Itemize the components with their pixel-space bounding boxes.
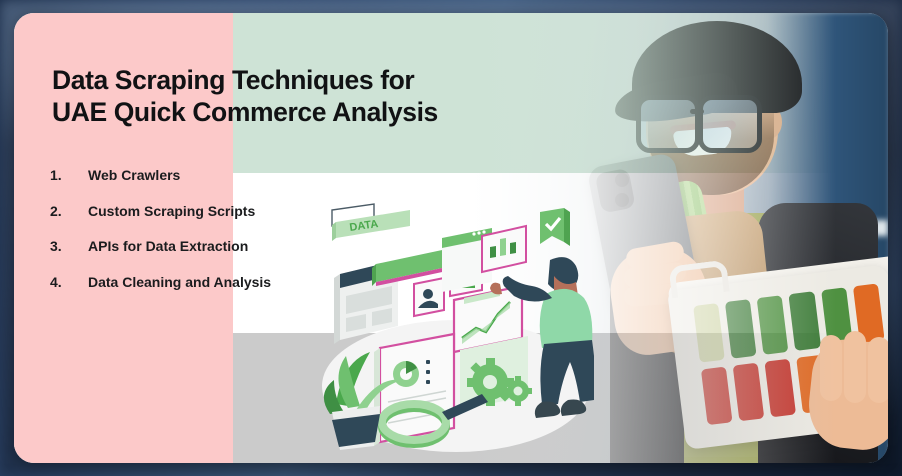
title-line-2: UAE Quick Commerce Analysis [52,96,522,128]
list-item: 1. Web Crawlers [50,167,380,183]
list-item: 4. Data Cleaning and Analysis [50,274,380,290]
page-title: Data Scraping Techniques for UAE Quick C… [52,64,522,129]
list-item-number: 4. [50,274,88,290]
techniques-list: 1. Web Crawlers 2. Custom Scraping Scrip… [50,167,380,309]
image-frame: DATA [0,0,902,476]
list-item-label: Web Crawlers [88,167,180,183]
verified-check-badge-icon [540,208,570,246]
list-item-number: 2. [50,203,88,219]
title-line-1: Data Scraping Techniques for [52,64,522,96]
list-item-label: Data Cleaning and Analysis [88,274,271,290]
profile-card-icon [414,278,444,316]
list-item-number: 1. [50,167,88,183]
list-item: 3. APIs for Data Extraction [50,238,380,254]
list-item-label: APIs for Data Extraction [88,238,248,254]
list-item-number: 3. [50,238,88,254]
list-item: 2. Custom Scraping Scripts [50,203,380,219]
promo-card: DATA [14,13,888,463]
list-item-label: Custom Scraping Scripts [88,203,255,219]
